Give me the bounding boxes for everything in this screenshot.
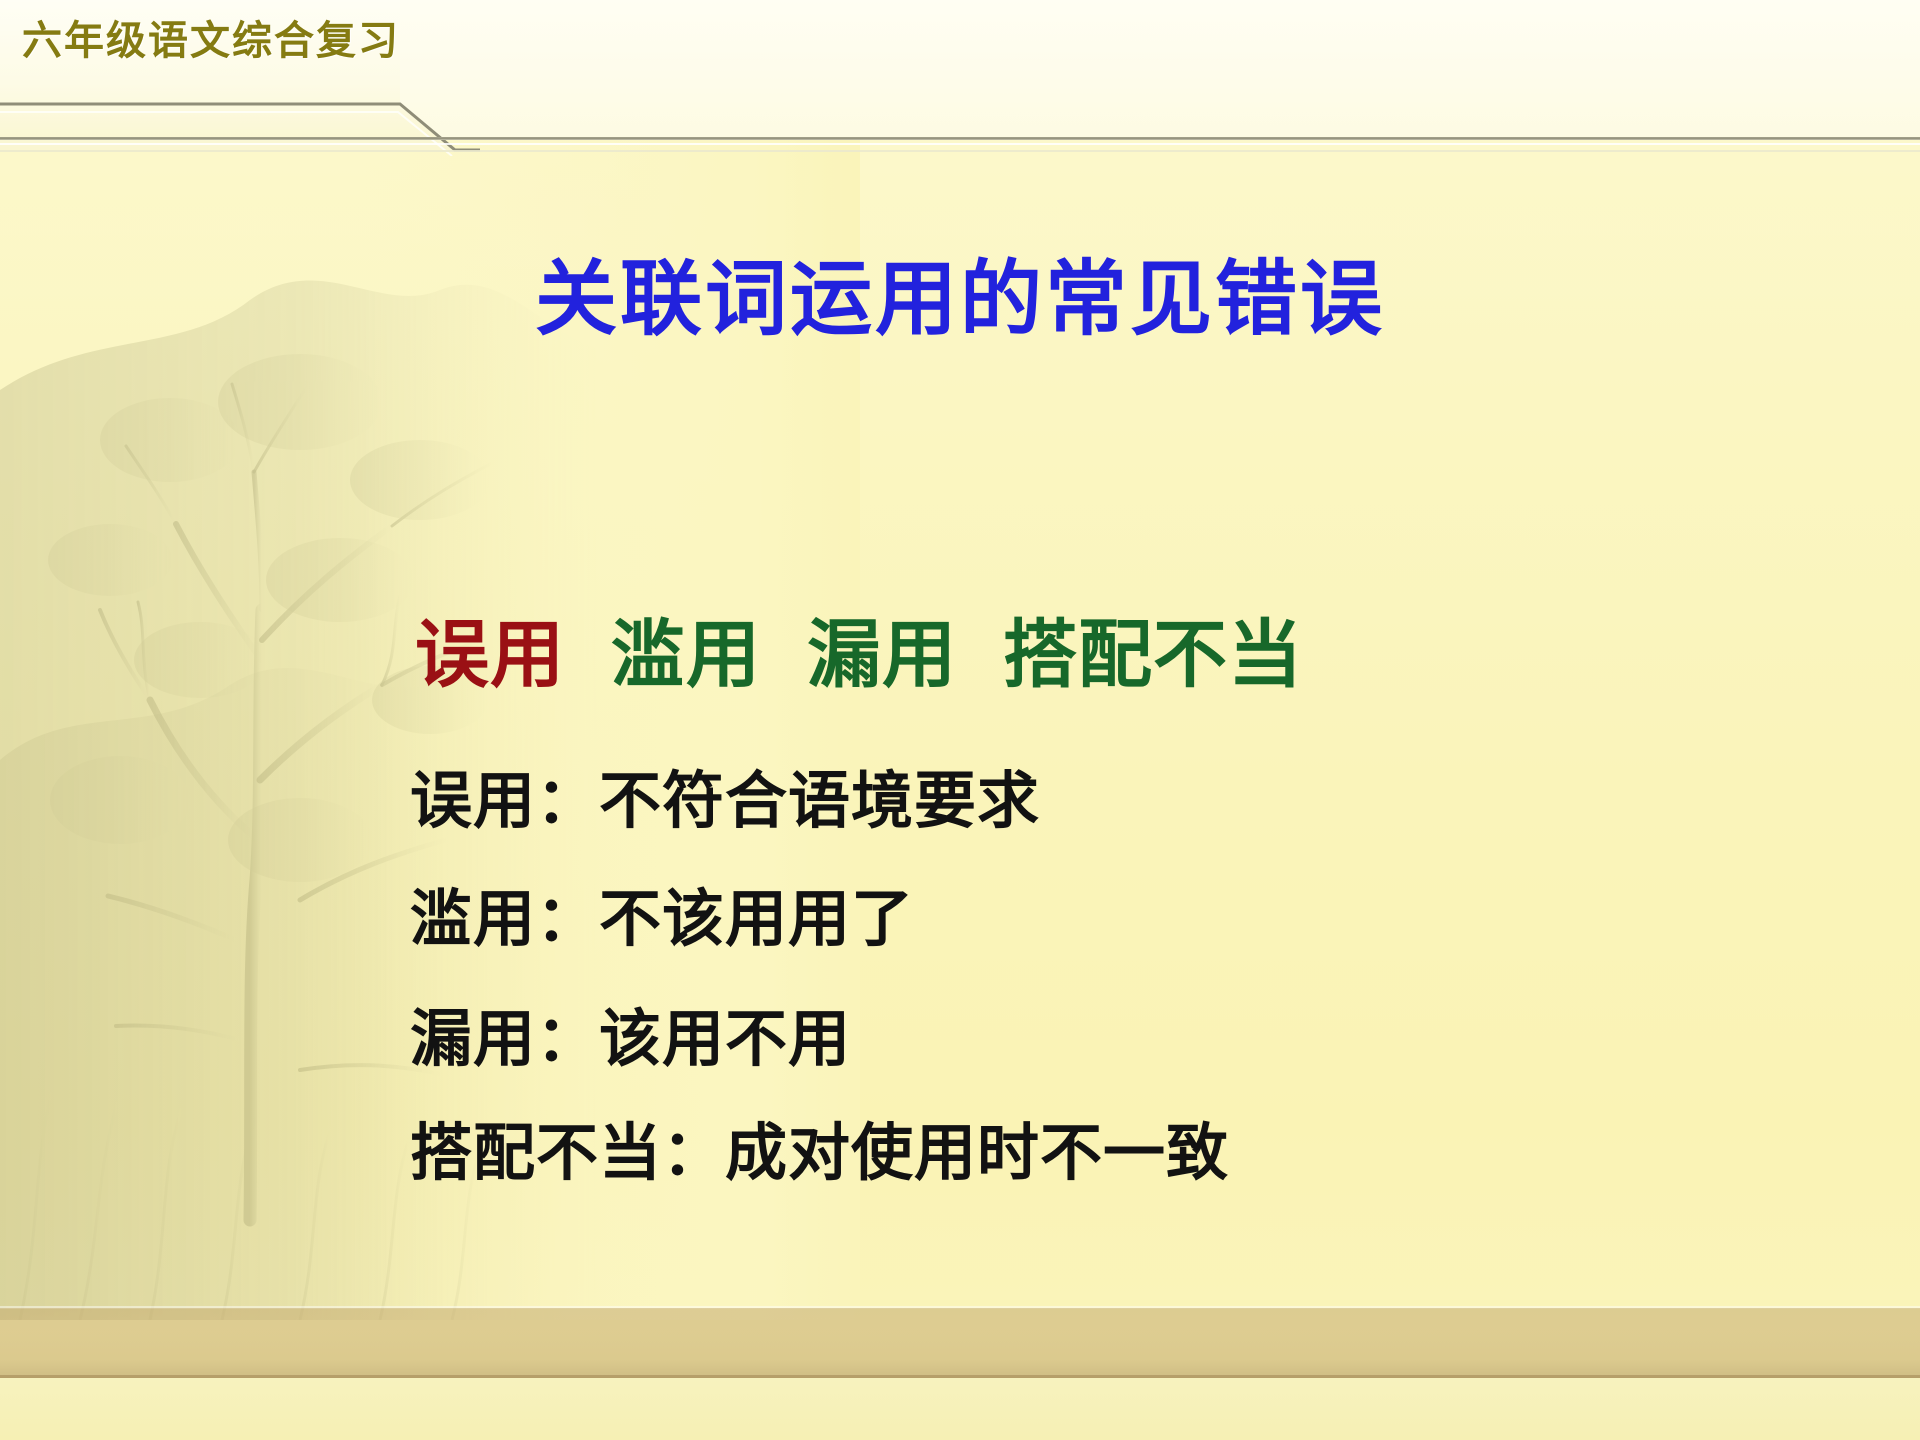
header-divider	[0, 137, 1920, 140]
header-divider-highlight	[0, 143, 1920, 145]
keyword-overuse: 滥用	[611, 595, 761, 702]
bottom-fill	[0, 1378, 1920, 1440]
keyword-mismatch: 搭配不当	[1003, 595, 1303, 702]
keyword-omission: 漏用	[807, 595, 957, 702]
slide-canvas: 六年级语文综合复习 关联词运用的常见错误 误用滥用漏用搭配不当 误用：不符合语境…	[0, 0, 1920, 1440]
slide-title: 关联词运用的常见错误	[0, 232, 1920, 351]
definition-line: 漏用：该用不用	[410, 1008, 1770, 1070]
definition-line: 搭配不当：成对使用时不一致	[410, 1122, 1770, 1184]
definition-line: 滥用：不该用用了	[410, 888, 1770, 950]
definition-line: 误用：不符合语境要求	[410, 770, 1770, 832]
course-title-label: 六年级语文综合复习	[22, 8, 400, 66]
header-divider-shadow	[0, 150, 1920, 152]
definition-list: 误用：不符合语境要求 滥用：不该用用了 漏用：该用不用 搭配不当：成对使用时不一…	[410, 770, 1770, 1184]
bottom-decorative-band	[0, 1308, 1920, 1378]
keyword-row: 误用滥用漏用搭配不当	[415, 595, 1303, 702]
keyword-misuse: 误用	[415, 595, 565, 702]
